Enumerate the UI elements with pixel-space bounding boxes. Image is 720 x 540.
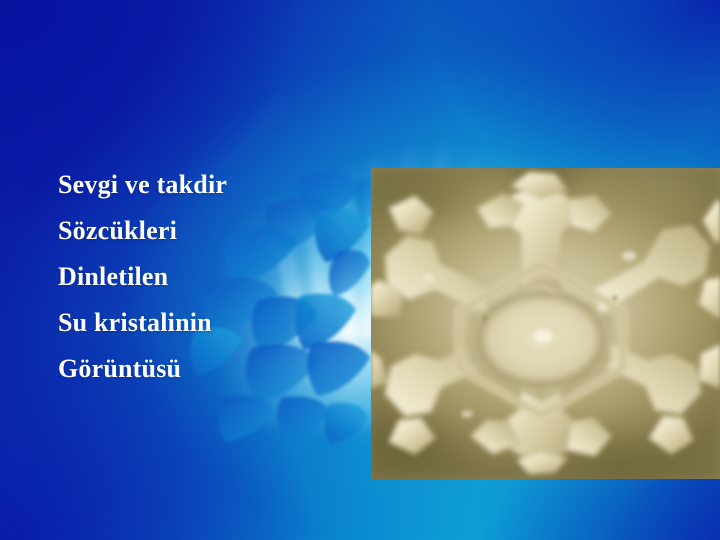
title-line-1: Sevgi ve takdir (58, 162, 368, 208)
presentation-slide: Sevgi ve takdir Sözcükleri Dinletilen Su… (0, 0, 720, 540)
title-line-4: Su kristalinin (58, 300, 368, 346)
title-line-2: Sözcükleri (58, 208, 368, 254)
water-crystal-image (371, 168, 720, 479)
snowflake-crystal-figure (371, 168, 720, 479)
slide-title-text: Sevgi ve takdir Sözcükleri Dinletilen Su… (58, 162, 368, 392)
title-line-3: Dinletilen (58, 254, 368, 300)
title-line-5: Görüntüsü (58, 346, 368, 392)
